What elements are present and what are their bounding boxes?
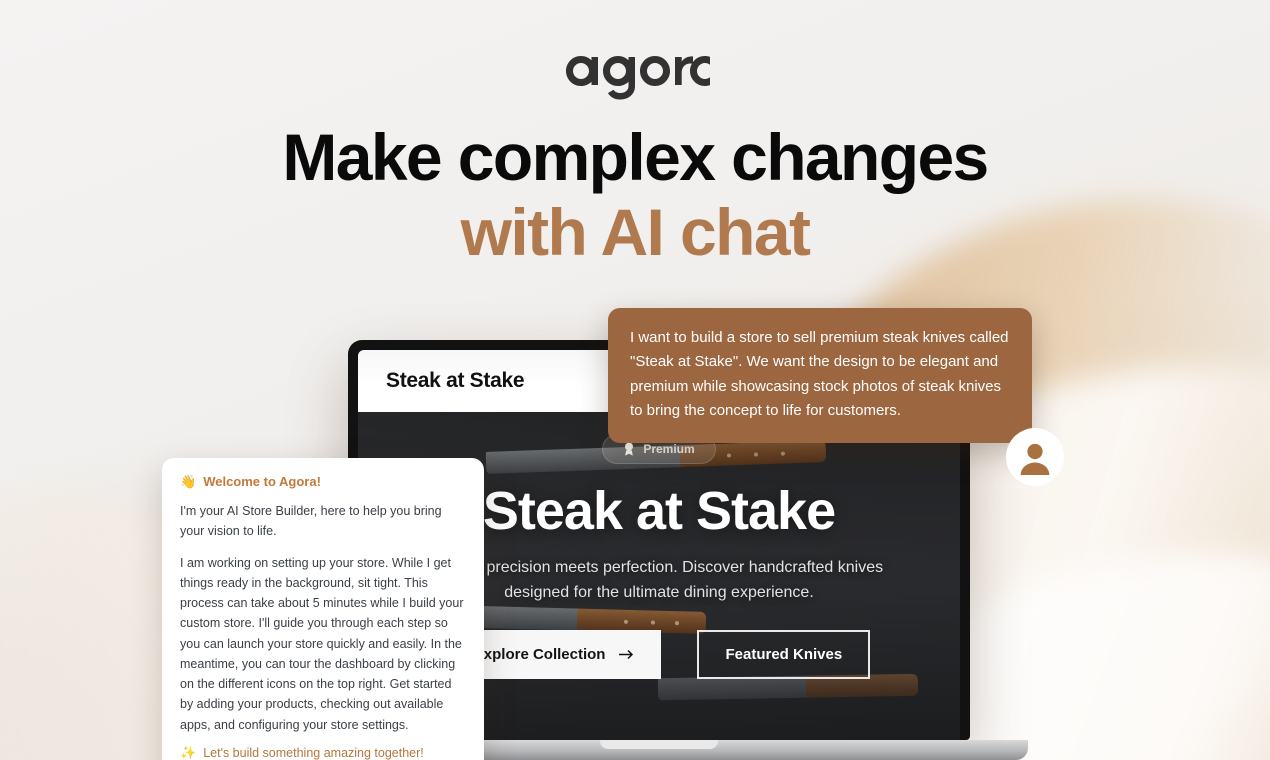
explore-collection-label: Explore Collection [474, 646, 606, 663]
welcome-card-header: 👋 Welcome to Agora! [180, 474, 466, 489]
award-icon [623, 442, 635, 456]
welcome-card-paragraph: I'm your AI Store Builder, here to help … [180, 501, 466, 542]
agora-logo-icon [560, 42, 710, 100]
avatar [1006, 428, 1064, 486]
welcome-card-footer-label: Let's build something amazing together! [203, 746, 424, 760]
wave-hand-icon: 👋 [180, 475, 196, 488]
user-chat-bubble: I want to build a store to sell premium … [608, 308, 1032, 443]
welcome-card-footer: ✨ Let's build something amazing together… [180, 746, 466, 760]
sparkles-icon: ✨ [180, 746, 196, 759]
page-title: Make complex changes with AI chat [0, 124, 1270, 267]
agora-logo [0, 42, 1270, 100]
user-avatar-icon [1015, 437, 1055, 477]
store-logo[interactable]: Steak at Stake [386, 369, 524, 393]
welcome-card-paragraph: I am working on setting up your store. W… [180, 553, 466, 735]
welcome-card-title: Welcome to Agora! [203, 474, 321, 489]
featured-knives-label: Featured Knives [725, 646, 842, 663]
store-hero-subtitle: Where precision meets perfection. Discov… [429, 556, 889, 606]
headline-line-2: with AI chat [0, 199, 1270, 266]
status-badge-label: Premium [643, 442, 694, 456]
featured-knives-button[interactable]: Featured Knives [697, 630, 870, 679]
welcome-card: 👋 Welcome to Agora! I'm your AI Store Bu… [162, 458, 484, 760]
laptop-notch [600, 740, 718, 749]
arrow-right-icon [619, 649, 635, 660]
promo-screenshot: Make complex changes with AI chat Steak … [0, 0, 1270, 760]
headline-line-1: Make complex changes [0, 124, 1270, 191]
